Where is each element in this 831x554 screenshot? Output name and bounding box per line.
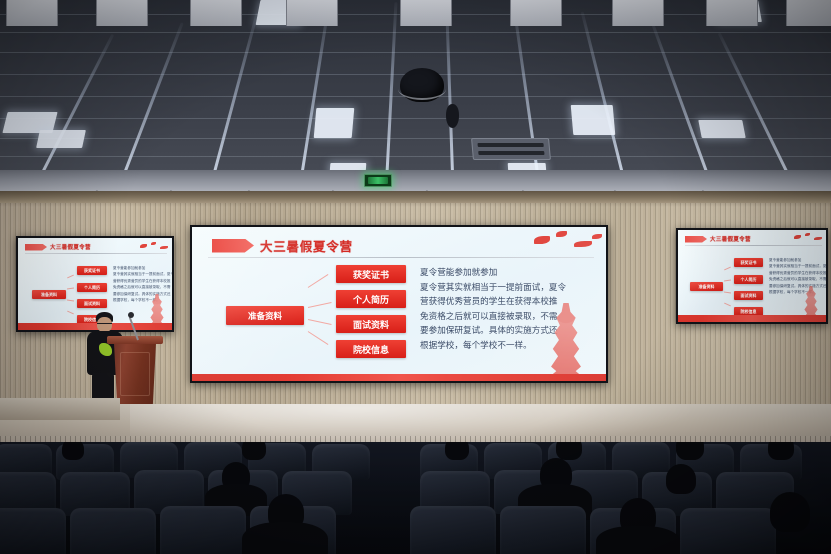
ceiling-light-panel [36,130,86,148]
slide-item-0: 获奖证书 [77,266,107,275]
screen-bottom-band [192,374,606,381]
audience-head [770,492,810,532]
hanging-sensor-icon [446,104,459,128]
exit-sign-icon [364,174,392,187]
audience-shoulders [596,526,680,554]
slide-left-box: 准备资料 [32,290,66,299]
connector-line [308,274,329,288]
audience-head [556,442,582,460]
ceiling [0,0,831,196]
slide-body-text: 夏令营能参加就参加 夏令营其实就相当于一提前面试，夏令 营获得优秀营员的学生在获… [420,265,566,353]
hoodie-logo-icon [99,343,112,356]
right-display-screen[interactable]: 大三暑假夏令营 准备资料 获奖证书 个人简历 面试资料 院校信息 夏令营能参加就… [676,228,828,324]
audience-head [666,464,696,494]
slide-item-2: 面试资料 [77,299,107,308]
slide-title: 大三暑假夏令营 [50,243,91,251]
audience-shoulders [242,522,328,554]
body-line: 免资格之后就可以直接被录取，不需 [420,309,566,324]
presenter-glasses-icon [97,323,112,324]
slide-item-0: 获奖证书 [336,265,406,283]
slide-title: 大三暑假夏令营 [710,235,751,243]
slide-body-text: 夏令营能参加就参加 夏令营其实就相当于一提前面试，夏令 营获得优秀营员的学生在获… [113,265,174,303]
ceiling-light-strip [205,12,259,196]
audience-seating [0,442,831,554]
audience-head [62,442,84,460]
slide-left-box: 准备资料 [690,282,723,291]
slide-title-row: 大三暑假夏令营 [212,236,353,255]
audience-head [242,442,266,460]
slide-bird-decoration-icon [138,242,172,252]
body-line: 根据学校，每个学校不一样。 [420,338,566,353]
connector-line [308,331,329,345]
audience-head [445,442,469,460]
title-arrow-icon [685,236,707,243]
slide-item-2: 面试资料 [336,315,406,333]
slide-body-text: 夏令营能参加就参加 夏令营其实就相当于一提前面试，夏令 营获得优秀营员的学生在获… [769,257,828,295]
lecture-hall-photo: 大三暑假夏令营 准备资料 获奖证书 个人简历 面试资料 院校信息 夏令营能参加就… [0,0,831,554]
body-line: 营获得优秀营员的学生在获得本校推 [420,294,566,309]
slide-item-0: 获奖证书 [734,258,763,267]
connector-line [308,302,332,308]
main-projection-screen[interactable]: 大三暑假夏令营 准备资料 获奖证书 个人简历 面试资料 院校信息 夏令营能参加就… [190,225,608,383]
slide-item-1: 个人简历 [734,275,763,284]
ceiling-light-strip [296,6,330,196]
title-arrow-icon [212,239,254,253]
body-line: 要参加保研复试。具体的实施方式还 [420,323,566,338]
slide-title: 大三暑假夏令营 [260,236,353,255]
microphone-icon [128,312,134,318]
title-arrow-icon [25,244,47,251]
slide-item-1: 个人简历 [77,283,107,292]
presenter-head [97,317,112,332]
air-conditioner-vent-icon [471,138,551,160]
title-divider [208,257,594,258]
audience-head [768,442,794,460]
slide-item-2: 面试资料 [734,291,763,300]
ceiling-light-panel [698,120,745,138]
ceiling-light-panel [571,105,616,135]
stage-step [0,398,120,420]
audience-head [676,442,704,460]
ceiling-light-strip [581,11,631,196]
slide-item-1: 个人简历 [336,290,406,308]
dome-rim [398,78,446,100]
body-line: 夏令营其实就相当于一提前面试，夏令 [420,280,566,295]
slide-left-box: 准备资料 [226,306,304,325]
slide-item-3: 院校信息 [336,340,406,358]
ceiling-light-panel [314,108,355,138]
slide-bird-decoration-icon [530,231,606,253]
connector-line [308,319,332,325]
body-line: 夏令营能参加就参加 [420,265,566,280]
slide-bird-decoration-icon [792,233,826,243]
